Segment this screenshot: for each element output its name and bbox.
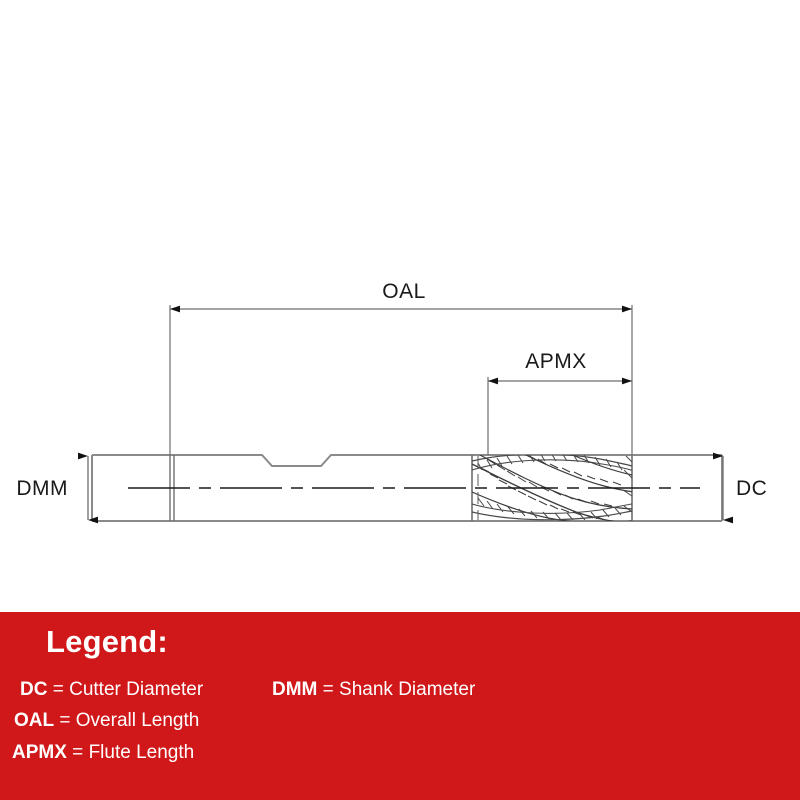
legend-sep-apmx: = <box>67 742 89 763</box>
legend-definition-apmx: Flute Length <box>89 742 195 763</box>
legend-sep-dc: = <box>47 679 69 700</box>
legend-definition-dc: Cutter Diameter <box>69 679 203 700</box>
dimension-apmx: APMX <box>488 350 632 455</box>
dc-label: DC <box>736 477 767 500</box>
legend-abbr-apmx: APMX <box>12 742 67 763</box>
flute-helix-main-2 <box>472 492 632 523</box>
legend-panel: Legend: DC = Cutter Diameter DMM = Shank… <box>0 612 800 800</box>
legend-abbr-dmm: DMM <box>272 679 317 700</box>
legend-abbr-dc: DC <box>20 679 47 700</box>
legend-abbr-oal: OAL <box>14 710 54 731</box>
legend-title: Legend: <box>46 624 168 660</box>
legend-definition-dmm: Shank Diameter <box>339 679 475 700</box>
apmx-label: APMX <box>525 350 587 373</box>
oal-label: OAL <box>382 280 426 303</box>
legend-entry-dc: DC = Cutter Diameter <box>20 680 203 699</box>
end-mill-drawing-svg: OAL APMX DMM DC <box>0 0 800 612</box>
dimension-dc: DC <box>723 456 767 520</box>
dimension-dmm: DMM <box>16 456 88 520</box>
page-root: OAL APMX DMM DC Legend: DC = Cutte <box>0 0 800 800</box>
dmm-label: DMM <box>16 477 68 500</box>
legend-sep-dmm: = <box>317 679 339 700</box>
legend-entry-dmm: DMM = Shank Diameter <box>272 680 475 699</box>
legend-definition-oal: Overall Length <box>76 710 200 731</box>
legend-entry-apmx: APMX = Flute Length <box>12 743 194 762</box>
flute-helix-main-4 <box>520 452 634 492</box>
legend-sep-oal: = <box>54 710 76 731</box>
technical-drawing: OAL APMX DMM DC <box>0 0 800 612</box>
legend-entry-oal: OAL = Overall Length <box>14 711 199 730</box>
